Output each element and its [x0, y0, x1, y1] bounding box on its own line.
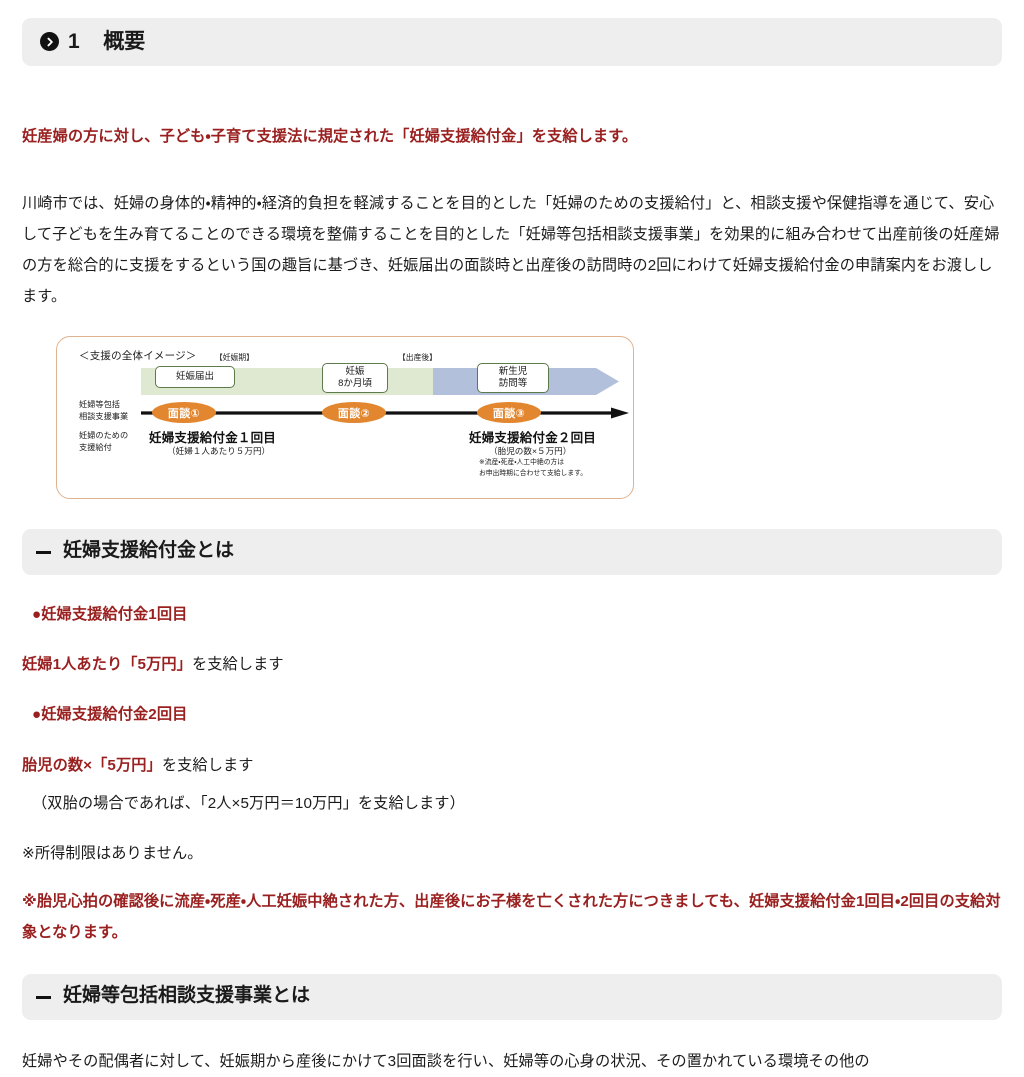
diagram-stage-box-2: 妊娠 8か月頃 — [322, 363, 388, 393]
note-eligibility-red: ※胎児心拍の確認後に流産・死産・人工妊娠中絶された方、出産後にお子様を亡くされた… — [22, 886, 1002, 948]
chevron-right-circle-icon — [40, 32, 59, 51]
section-heading-benefit-definition: 妊婦支援給付金とは — [22, 529, 1002, 575]
page-title: 概要 — [103, 31, 145, 52]
payment2-note-line2: お申出時期に合わせて支給します。 — [479, 469, 587, 479]
diagram-stage-label: 妊娠届出 — [176, 371, 214, 383]
diagram-payment1-subtitle: （妊婦１人あたり５万円） — [167, 445, 270, 457]
section-title: 妊婦支援給付金とは — [63, 540, 234, 563]
benefit-first-heading: ●妊婦支援給付金1回目 — [22, 601, 1002, 629]
diagram-stage-box-1: 妊娠届出 — [155, 366, 235, 388]
payment2-note-line1: ※流産・死産・人工中絶の方は — [479, 458, 587, 468]
lane-label-line1: 妊婦等包括 — [79, 399, 128, 411]
page-content: 1 概要 妊産婦の方に対し、子ども・子育て支援法に規定された「妊婦支援給付金」を… — [0, 0, 1024, 1077]
support-overview-diagram: ＜支援の全体イメージ＞ 【妊娠期】 【出産後】 妊娠届出 妊娠 8か月頃 新生児… — [56, 336, 634, 499]
diagram-stage-label-line2: 訪問等 — [499, 378, 528, 390]
interview-label: 面談① — [168, 405, 200, 421]
diagram-stage-label-line1: 新生児 — [499, 366, 528, 378]
overview-paragraph: 川崎市では、妊婦の身体的・精神的・経済的負担を軽減することを目的とした「妊婦のた… — [22, 188, 1002, 313]
lane-label-line1: 妊婦のための — [79, 430, 128, 442]
diagram-payment1-title: 妊婦支援給付金１回目 — [149, 427, 276, 446]
benefit-second-example: （双胎の場合であれば、「2人×5万円＝10万円」を支給します） — [22, 790, 1002, 818]
benefit-second-heading-text: ●妊婦支援給付金2回目 — [32, 706, 187, 723]
section-number: 1 — [68, 31, 80, 52]
diagram-lane-label-benefit: 妊婦のための 支援給付 — [79, 430, 128, 454]
diagram-interview-2: 面談② — [322, 402, 386, 423]
benefit-second-amount: 胎児の数×「5万円」を支給します — [22, 752, 1002, 780]
interview-label: 面談② — [338, 405, 370, 421]
benefit-first-amount-red: 妊婦1人あたり「5万円」 — [22, 656, 192, 673]
section-heading-overview: 1 概要 — [22, 18, 1002, 66]
diagram-payment2-subtitle: （胎児の数×５万円） — [489, 445, 571, 457]
section-title: 妊婦等包括相談支援事業とは — [63, 985, 310, 1008]
benefit-second-amount-black: を支給します — [162, 757, 254, 774]
diagram-interview-1: 面談① — [152, 402, 216, 423]
lead-statement: 妊産婦の方に対し、子ども・子育て支援法に規定された「妊婦支援給付金」を支給します… — [22, 123, 1002, 150]
benefit-first-heading-text: ●妊婦支援給付金1回目 — [32, 606, 187, 623]
diagram-stage-label-line1: 妊娠 — [345, 366, 364, 378]
note-no-income-limit: ※所得制限はありません。 — [22, 840, 1002, 868]
diagram-lane-label-consultation: 妊婦等包括 相談支援事業 — [79, 399, 128, 423]
benefit-second-amount-red: 胎児の数×「5万円」 — [22, 757, 162, 774]
diagram-payment2-title: 妊婦支援給付金２回目 — [469, 427, 596, 446]
dash-icon — [36, 551, 51, 554]
benefit-second-heading: ●妊婦支援給付金2回目 — [22, 701, 1002, 729]
benefit-first-amount: 妊婦1人あたり「5万円」を支給します — [22, 651, 1002, 679]
diagram-interview-3: 面談③ — [477, 402, 541, 423]
section-heading-consultation-program: 妊婦等包括相談支援事業とは — [22, 974, 1002, 1020]
dash-icon — [36, 996, 51, 999]
diagram-stage-box-3: 新生児 訪問等 — [477, 363, 549, 393]
interview-label: 面談③ — [493, 405, 525, 421]
note-eligibility-red-text: ※胎児心拍の確認後に流産・死産・人工妊娠中絶された方、出産後にお子様を亡くされた… — [22, 893, 1001, 941]
diagram-caption: ＜支援の全体イメージ＞ — [79, 348, 197, 363]
diagram-phase-postbirth: 【出産後】 — [398, 352, 437, 363]
consultation-program-paragraph: 妊婦やその配偶者に対して、妊娠期から産後にかけて3回面談を行い、妊婦等の心身の状… — [22, 1046, 1002, 1077]
lane-label-line2: 相談支援事業 — [79, 411, 128, 423]
benefit-first-amount-black: を支給します — [192, 656, 284, 673]
lane-label-line2: 支援給付 — [79, 442, 128, 454]
diagram-stage-label-line2: 8か月頃 — [338, 378, 372, 390]
diagram-phase-pregnancy: 【妊娠期】 — [215, 352, 254, 363]
diagram-payment2-note: ※流産・死産・人工中絶の方は お申出時期に合わせて支給します。 — [479, 458, 587, 478]
